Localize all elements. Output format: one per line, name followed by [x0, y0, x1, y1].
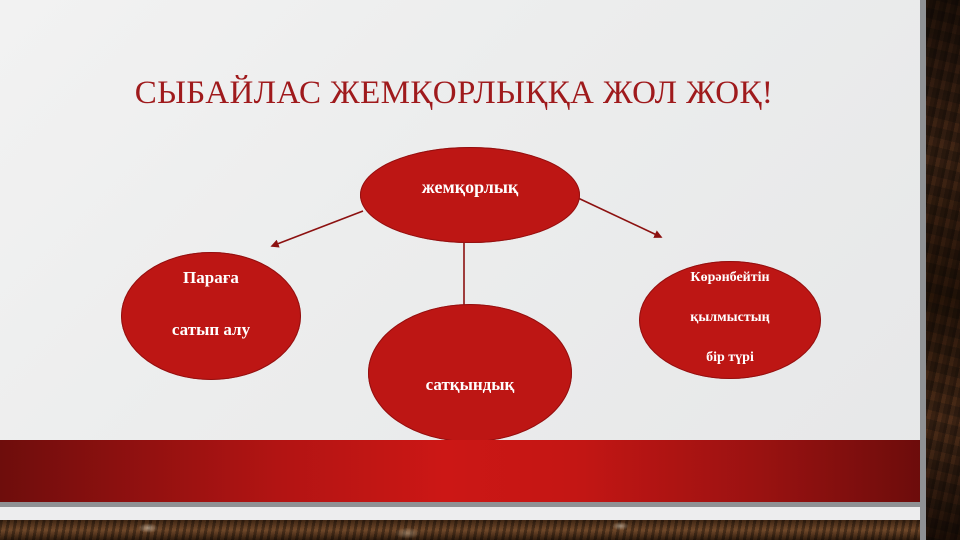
diagram-node-right-line-2: қылмыстың	[680, 308, 779, 328]
diagram-node-right-line-3: бір түрі	[680, 348, 779, 368]
diagram-node-bottom-label: сатқындық	[416, 374, 525, 396]
diagram-node-right-line-1: Көрәнбейтін	[680, 268, 779, 288]
diagram-node-left[interactable]: Параға сатып алу	[121, 252, 301, 380]
diagram-node-left-label: Параға сатып алу	[152, 271, 270, 349]
slide-accent-band-gap	[0, 507, 926, 520]
presentation-slide: СЫБАЙЛАС ЖЕМҚОРЛЫҚҚА ЖОЛ ЖОҚ! жемқорлық …	[0, 0, 926, 540]
slide-title: СЫБАЙЛАС ЖЕМҚОРЛЫҚҚА ЖОЛ ЖОҚ!	[48, 72, 860, 114]
slide-accent-band	[0, 440, 926, 502]
diagram-node-right-label: Көрәнбейтін қылмыстың бір түрі	[670, 269, 789, 369]
diagram-node-center-label: жемқорлық	[412, 176, 529, 198]
diagram-node-left-line-1: Параға	[162, 265, 260, 291]
arrow-to-left-branch	[272, 211, 363, 246]
slide-right-margin	[920, 0, 926, 540]
diagram-node-right[interactable]: Көрәнбейтін қылмыстың бір түрі	[639, 261, 821, 379]
arrow-to-right-branch	[578, 198, 661, 237]
diagram-node-bottom[interactable]: сатқындық	[368, 304, 572, 442]
diagram-node-left-line-2: сатып алу	[162, 317, 260, 343]
diagram-node-center[interactable]: жемқорлық	[360, 147, 580, 243]
slide-footer-texture	[0, 520, 926, 540]
